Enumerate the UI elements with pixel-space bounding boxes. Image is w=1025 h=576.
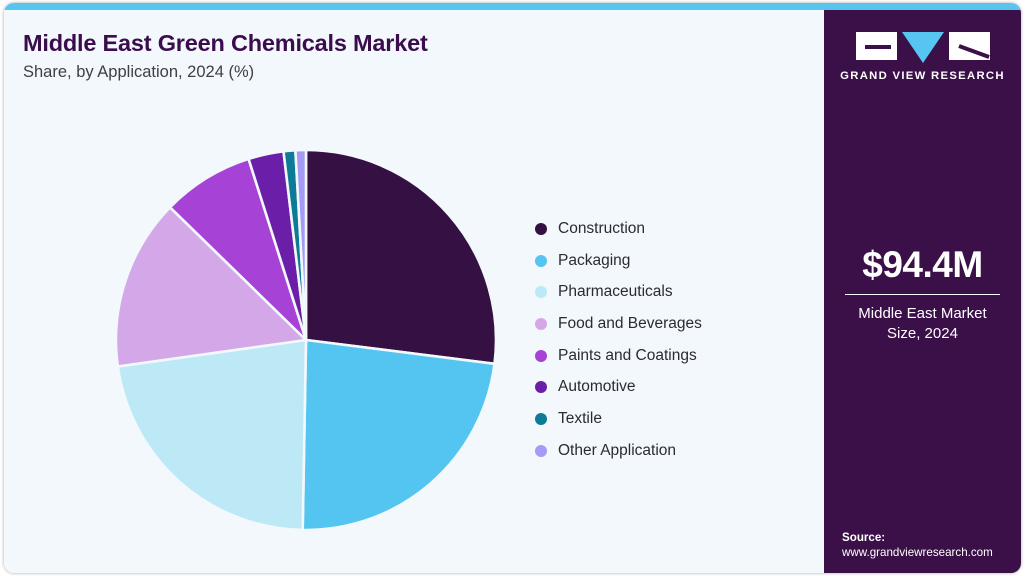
logo-wordmark: GRAND VIEW RESEARCH bbox=[824, 70, 1021, 82]
legend-item[interactable]: Pharmaceuticals bbox=[535, 276, 815, 308]
pie-slice bbox=[118, 340, 306, 530]
logo-letter-g-icon bbox=[856, 32, 897, 60]
logo-triangle-v-icon bbox=[902, 32, 944, 63]
source-block: Source: www.grandviewresearch.com bbox=[842, 531, 1021, 559]
chart-card: Middle East Green Chemicals Market Share… bbox=[4, 3, 1021, 573]
chart-legend: ConstructionPackagingPharmaceuticalsFood… bbox=[535, 213, 815, 467]
legend-color-swatch-icon bbox=[535, 286, 547, 298]
chart-main-area: Middle East Green Chemicals Market Share… bbox=[4, 10, 824, 573]
legend-item[interactable]: Paints and Coatings bbox=[535, 340, 815, 372]
legend-color-swatch-icon bbox=[535, 318, 547, 330]
market-size-stat: $94.4M Middle East Market Size, 2024 bbox=[824, 246, 1021, 343]
market-size-caption: Middle East Market Size, 2024 bbox=[824, 304, 1021, 342]
legend-item-label: Other Application bbox=[558, 442, 676, 460]
brand-logo: GRAND VIEW RESEARCH bbox=[824, 32, 1021, 82]
stat-divider bbox=[845, 294, 1000, 296]
market-size-caption-line1: Middle East Market bbox=[824, 304, 1021, 323]
source-url: www.grandviewresearch.com bbox=[842, 546, 1021, 559]
pie-slice bbox=[303, 340, 495, 530]
legend-item-label: Construction bbox=[558, 220, 645, 238]
market-size-value: $94.4M bbox=[824, 246, 1021, 285]
source-label: Source: bbox=[842, 531, 1021, 544]
pie-slice bbox=[306, 150, 496, 364]
legend-item[interactable]: Food and Beverages bbox=[535, 308, 815, 340]
legend-color-swatch-icon bbox=[535, 413, 547, 425]
legend-item-label: Paints and Coatings bbox=[558, 347, 697, 365]
legend-item[interactable]: Packaging bbox=[535, 245, 815, 277]
logo-marks bbox=[824, 32, 1021, 63]
legend-item[interactable]: Other Application bbox=[535, 435, 815, 467]
market-size-caption-line2: Size, 2024 bbox=[824, 324, 1021, 343]
legend-item-label: Automotive bbox=[558, 378, 636, 396]
legend-item[interactable]: Construction bbox=[535, 213, 815, 245]
logo-letter-r-icon bbox=[949, 32, 990, 60]
legend-item-label: Textile bbox=[558, 410, 602, 428]
top-accent-bar bbox=[4, 3, 1021, 10]
legend-item-label: Pharmaceuticals bbox=[558, 283, 673, 301]
legend-color-swatch-icon bbox=[535, 381, 547, 393]
legend-color-swatch-icon bbox=[535, 350, 547, 362]
legend-color-swatch-icon bbox=[535, 445, 547, 457]
legend-item-label: Packaging bbox=[558, 252, 630, 270]
legend-color-swatch-icon bbox=[535, 223, 547, 235]
legend-color-swatch-icon bbox=[535, 255, 547, 267]
legend-item-label: Food and Beverages bbox=[558, 315, 702, 333]
legend-item[interactable]: Automotive bbox=[535, 371, 815, 403]
legend-item[interactable]: Textile bbox=[535, 403, 815, 435]
chart-page: Middle East Green Chemicals Market Share… bbox=[0, 0, 1025, 576]
brand-sidebar: GRAND VIEW RESEARCH $94.4M Middle East M… bbox=[824, 10, 1021, 573]
